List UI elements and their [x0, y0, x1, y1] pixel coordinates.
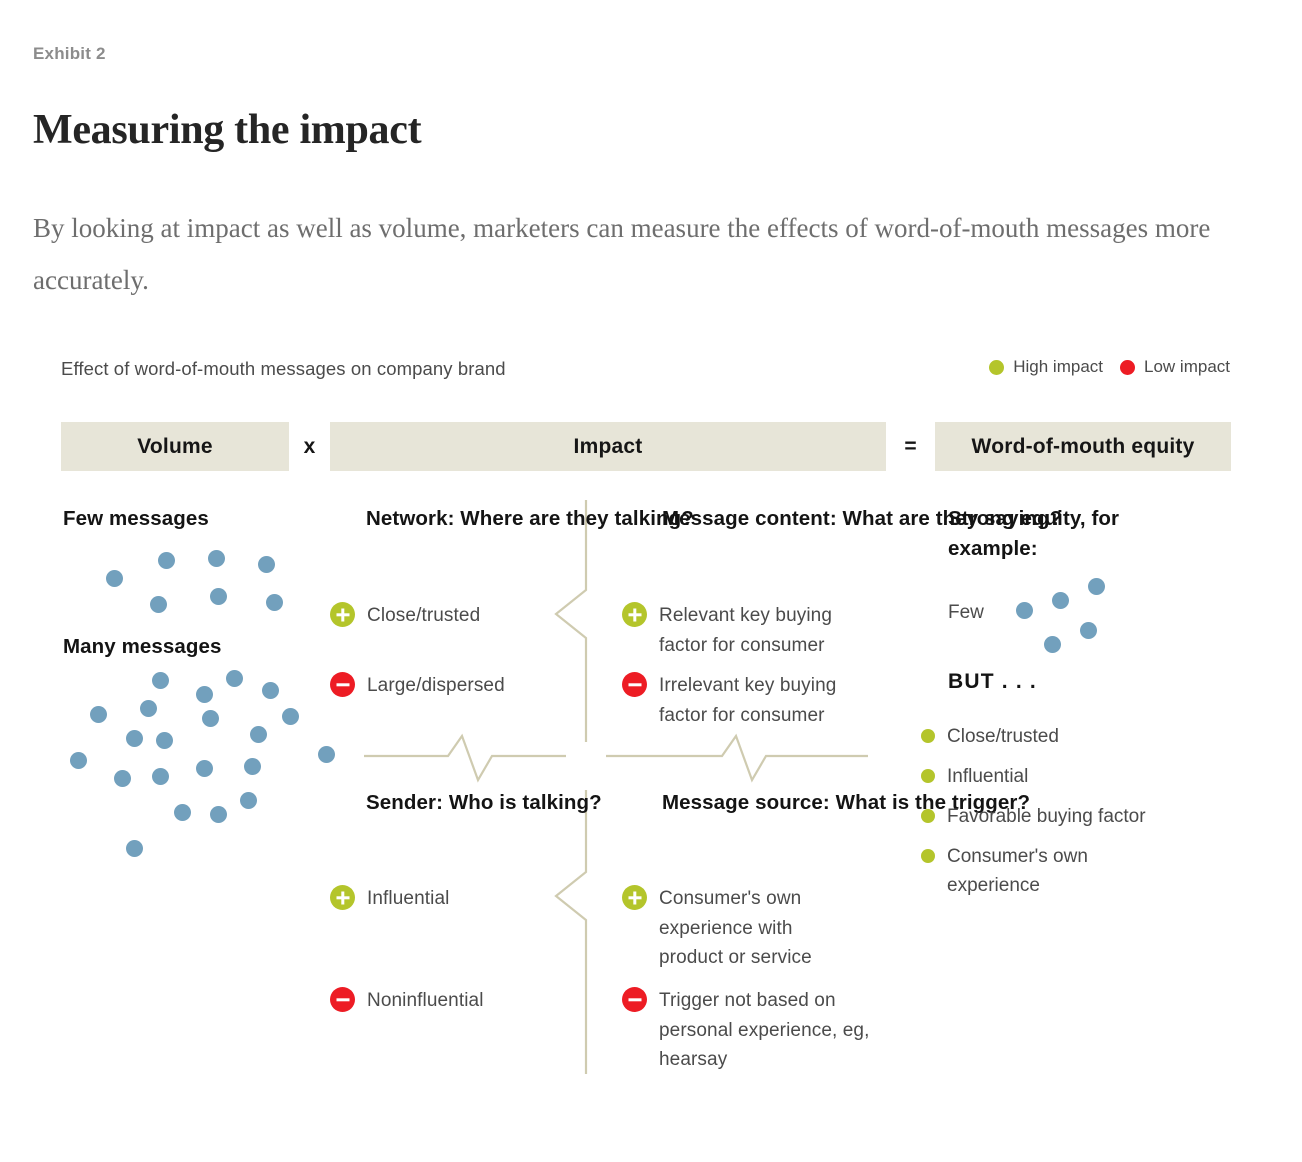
impact-network-negative-label: Large/dispersed — [367, 671, 505, 701]
impact-sender-negative-label: Noninfluential — [367, 986, 484, 1016]
minus-icon — [622, 672, 647, 697]
impact-network-negative: Large/dispersed — [330, 671, 570, 701]
band-volume: Volume — [61, 422, 289, 471]
list-item: Favorable buying factor — [921, 802, 1221, 831]
equity-item-label: Close/trusted — [947, 722, 1059, 751]
dotfield-many-messages — [68, 668, 298, 868]
equity-item-label: Favorable buying factor — [947, 802, 1146, 831]
impact-sender-heading: Sender: Who is talking? — [366, 788, 602, 818]
impact-network-heading: Network: Where are they talking? — [366, 504, 694, 534]
minus-icon — [330, 672, 355, 697]
figure-caption: Effect of word-of-mouth messages on comp… — [61, 358, 506, 380]
impact-message-source-positive-label: Consumer's own experience with product o… — [659, 884, 812, 973]
impact-message-content-positive: Relevant key buying factor for consumer — [622, 601, 892, 660]
impact-sender-negative: Noninfluential — [330, 986, 570, 1016]
impact-message-content-negative: Irrelevant key buying factor for consume… — [622, 671, 892, 730]
impact-message-source-negative: Trigger not based on personal experience… — [622, 986, 912, 1075]
plus-icon — [330, 885, 355, 910]
band-equity: Word-of-mouth equity — [935, 422, 1231, 471]
plus-icon — [622, 602, 647, 627]
exhibit-figure: Effect of word-of-mouth messages on comp… — [0, 0, 1302, 1162]
operator-times: x — [289, 422, 330, 471]
equity-but-label: BUT . . . — [948, 670, 1037, 694]
equity-list: Close/trusted Influential Favorable buyi… — [921, 722, 1221, 911]
impact-network-positive: Close/trusted — [330, 601, 560, 631]
equity-few-label: Few — [948, 602, 984, 624]
operator-equals: = — [886, 422, 935, 471]
list-item: Influential — [921, 762, 1221, 791]
volume-many-messages-label: Many messages — [63, 632, 222, 662]
equity-item-label: Influential — [947, 762, 1028, 791]
high-impact-dot-icon — [989, 360, 1004, 375]
bullet-dot-icon — [921, 849, 935, 863]
bullet-dot-icon — [921, 809, 935, 823]
impact-message-source-negative-label: Trigger not based on personal experience… — [659, 986, 869, 1075]
figure-legend: High impact Low impact — [989, 357, 1230, 377]
impact-message-content-negative-label: Irrelevant key buying factor for consume… — [659, 671, 836, 730]
dotfield-equity-few — [1010, 578, 1130, 648]
impact-message-source-positive: Consumer's own experience with product o… — [622, 884, 902, 973]
minus-icon — [330, 987, 355, 1012]
bullet-dot-icon — [921, 769, 935, 783]
impact-sender-positive: Influential — [330, 884, 560, 914]
minus-icon — [622, 987, 647, 1012]
band-impact: Impact — [330, 422, 886, 471]
plus-icon — [622, 885, 647, 910]
plus-icon — [330, 602, 355, 627]
impact-sender-positive-label: Influential — [367, 884, 449, 914]
bullet-dot-icon — [921, 729, 935, 743]
list-item: Consumer's own experience — [921, 842, 1221, 900]
dotfield-few-messages — [100, 548, 320, 628]
legend-item-high-impact: High impact — [989, 357, 1103, 377]
volume-few-messages-label: Few messages — [63, 504, 209, 534]
list-item: Close/trusted — [921, 722, 1221, 751]
impact-message-content-positive-label: Relevant key buying factor for consumer — [659, 601, 832, 660]
impact-network-positive-label: Close/trusted — [367, 601, 480, 631]
legend-label-low-impact: Low impact — [1144, 357, 1230, 377]
equity-item-label: Consumer's own experience — [947, 842, 1088, 900]
low-impact-dot-icon — [1120, 360, 1135, 375]
equity-heading: Strong equity, for example: — [948, 504, 1119, 564]
legend-label-high-impact: High impact — [1013, 357, 1103, 377]
legend-item-low-impact: Low impact — [1120, 357, 1230, 377]
